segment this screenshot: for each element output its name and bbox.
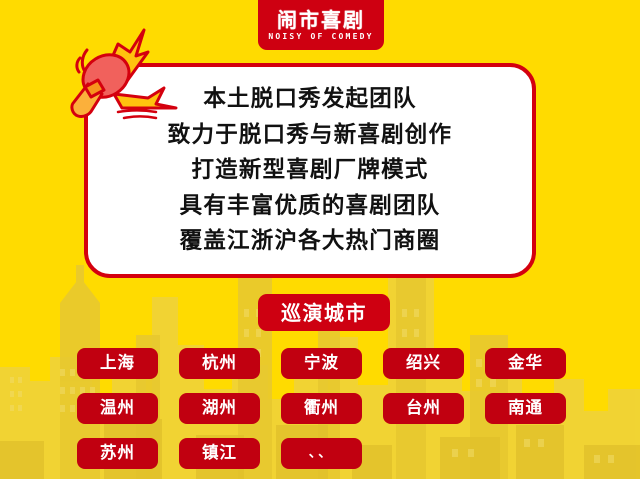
city-button-nantong[interactable]: 南通 [485, 393, 566, 424]
city-label: 温州 [100, 400, 135, 417]
city-label: 湖州 [202, 400, 237, 417]
description-line-5: 覆盖江浙沪各大热门商圈 [180, 230, 441, 253]
city-label: 衢州 [304, 400, 339, 417]
brand-title-en: NOISY OF COMEDY [268, 33, 373, 41]
city-row-2: 温州 湖州 衢州 台州 南通 [77, 393, 566, 424]
city-row-spacer [485, 438, 566, 469]
description-line-4: 具有丰富优质的喜剧团队 [180, 195, 441, 218]
brand-logo-badge: 闹市喜剧 NOISY OF COMEDY [258, 0, 384, 50]
city-button-wenzhou[interactable]: 温州 [77, 393, 158, 424]
brand-title-cn: 闹市喜剧 [277, 10, 365, 30]
tour-cities-heading-badge: 巡演城市 [258, 294, 390, 331]
promo-poster: 闹市喜剧 NOISY OF COMEDY 本土脱口秀发起团队 致力于脱口秀与新喜… [0, 0, 640, 479]
city-label: 宁波 [304, 355, 339, 372]
city-label: 上海 [100, 355, 135, 372]
city-button-huzhou[interactable]: 湖州 [179, 393, 260, 424]
city-button-jinhua[interactable]: 金华 [485, 348, 566, 379]
city-label: 杭州 [202, 355, 237, 372]
city-button-more[interactable]: 、、 [281, 438, 362, 469]
city-button-shanghai[interactable]: 上海 [77, 348, 158, 379]
city-label: 、、 [309, 447, 335, 460]
description-line-1: 本土脱口秀发起团队 [203, 88, 416, 111]
description-line-2: 致力于脱口秀与新喜剧创作 [168, 124, 452, 147]
city-row-3: 苏州 镇江 、、 [77, 438, 566, 469]
city-row-1: 上海 杭州 宁波 绍兴 金华 [77, 348, 566, 379]
description-line-3: 打造新型喜剧厂牌模式 [191, 159, 428, 182]
tour-city-grid: 上海 杭州 宁波 绍兴 金华 温州 湖州 衢州 [77, 348, 566, 469]
city-label: 镇江 [202, 445, 237, 462]
city-label: 金华 [508, 355, 543, 372]
city-button-zhenjiang[interactable]: 镇江 [179, 438, 260, 469]
city-label: 绍兴 [406, 355, 441, 372]
microphone-lightning-icon [52, 24, 184, 128]
city-button-taizhou[interactable]: 台州 [383, 393, 464, 424]
city-button-shaoxing[interactable]: 绍兴 [383, 348, 464, 379]
city-button-suzhou[interactable]: 苏州 [77, 438, 158, 469]
city-row-spacer [383, 438, 464, 469]
tour-cities-heading-label: 巡演城市 [281, 303, 367, 323]
city-button-quzhou[interactable]: 衢州 [281, 393, 362, 424]
city-label: 苏州 [100, 445, 135, 462]
city-label: 台州 [406, 400, 441, 417]
city-label: 南通 [508, 400, 543, 417]
city-button-ningbo[interactable]: 宁波 [281, 348, 362, 379]
city-button-hangzhou[interactable]: 杭州 [179, 348, 260, 379]
